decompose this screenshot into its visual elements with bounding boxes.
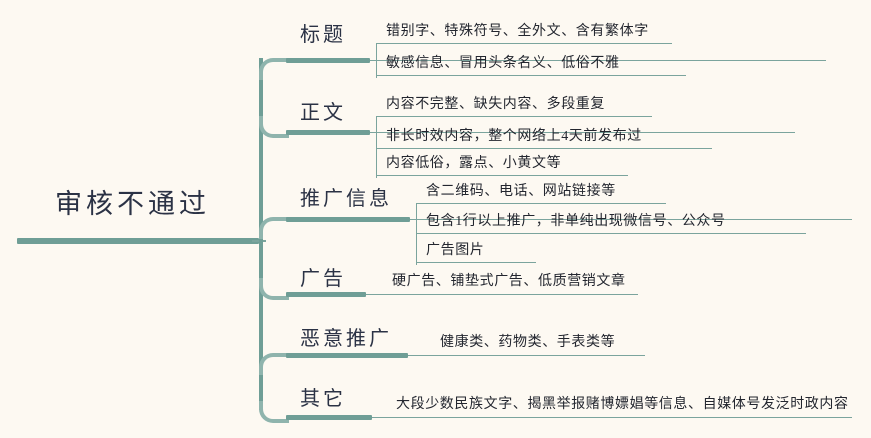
- mindmap-canvas: 审核不通过 标题错别字、特殊符号、全外文、含有繁体字敏感信息、冒用头条名义、低俗…: [0, 0, 871, 438]
- branch-elbow: [259, 58, 289, 80]
- subitem-underline: [376, 75, 686, 76]
- subitem-label: 非长时效内容，整个网络上4天前发布过: [386, 125, 642, 145]
- branch-label[interactable]: 标题: [300, 18, 346, 47]
- branch-underline-bar: [286, 292, 366, 297]
- branch-underline-bar: [286, 58, 370, 63]
- branch-underline-bar: [286, 353, 408, 358]
- subitem[interactable]: 广告图片: [416, 237, 536, 263]
- branch-underline-bar: [286, 415, 372, 420]
- branch-label[interactable]: 恶意推广: [300, 322, 392, 351]
- subitem-underline: [416, 262, 536, 263]
- subitem[interactable]: 大段少数民族文字、揭黑举报赌博嫖娼等信息、自媒体号发泛时政内容: [396, 393, 851, 417]
- root-node-underline: [17, 238, 259, 244]
- subitem-underline: [416, 233, 806, 234]
- branch-elbow: [259, 353, 289, 375]
- trunk-line: [259, 58, 263, 410]
- subitem-underline: [376, 43, 672, 44]
- root-node-label[interactable]: 审核不通过: [55, 182, 210, 221]
- subitem-underline: [376, 116, 652, 117]
- subitem-label: 包含1行以上推广，非单纯出现微信号、公众号: [426, 210, 726, 230]
- branch-elbow: [259, 401, 289, 423]
- branch-label[interactable]: 正文: [300, 96, 346, 125]
- subitem-label: 错别字、特殊符号、全外文、含有繁体字: [386, 20, 649, 40]
- branch-underline-bar: [286, 130, 370, 135]
- subitem[interactable]: 包含1行以上推广，非单纯出现微信号、公众号: [416, 208, 806, 234]
- branch-underline-rule: [366, 294, 638, 295]
- subitem-underline: [376, 175, 628, 176]
- branch-underline-rule: [408, 355, 645, 356]
- subitem[interactable]: 含二维码、电话、网站链接等: [416, 178, 666, 204]
- subitem[interactable]: 硬广告、铺垫式广告、低质营销文章: [392, 270, 640, 294]
- subitem[interactable]: 非长时效内容，整个网络上4天前发布过: [376, 123, 712, 149]
- branch-label[interactable]: 推广信息: [300, 182, 392, 211]
- subitem[interactable]: 敏感信息、冒用头条名义、低俗不雅: [376, 50, 686, 76]
- subitem[interactable]: 内容不完整、缺失内容、多段重复: [376, 91, 652, 117]
- branch-underline-bar: [286, 217, 410, 222]
- subitem-label: 健康类、药物类、手表类等: [440, 331, 615, 351]
- branch-label[interactable]: 其它: [300, 382, 346, 411]
- subitem-label: 广告图片: [426, 239, 484, 259]
- branch-label[interactable]: 广告: [300, 262, 346, 291]
- subitem-underline: [376, 148, 712, 149]
- subitem-label: 敏感信息、冒用头条名义、低俗不雅: [386, 52, 620, 72]
- subitem[interactable]: 内容低俗，露点、小黄文等: [376, 150, 628, 176]
- branch-elbow: [259, 116, 289, 138]
- subitem[interactable]: 健康类、药物类、手表类等: [440, 331, 630, 355]
- subitem-label: 含二维码、电话、网站链接等: [426, 180, 616, 200]
- subitem-label: 内容低俗，露点、小黄文等: [386, 152, 561, 172]
- branch-elbow: [259, 278, 289, 300]
- branch-elbow: [259, 217, 289, 239]
- branch-underline-rule: [372, 417, 852, 418]
- subitem-label: 大段少数民族文字、揭黑举报赌博嫖娼等信息、自媒体号发泛时政内容: [396, 393, 849, 413]
- subitem-label: 内容不完整、缺失内容、多段重复: [386, 93, 605, 113]
- subitem-underline: [416, 203, 666, 204]
- subitem-label: 硬广告、铺垫式广告、低质营销文章: [392, 270, 626, 290]
- subitem[interactable]: 错别字、特殊符号、全外文、含有繁体字: [376, 18, 672, 44]
